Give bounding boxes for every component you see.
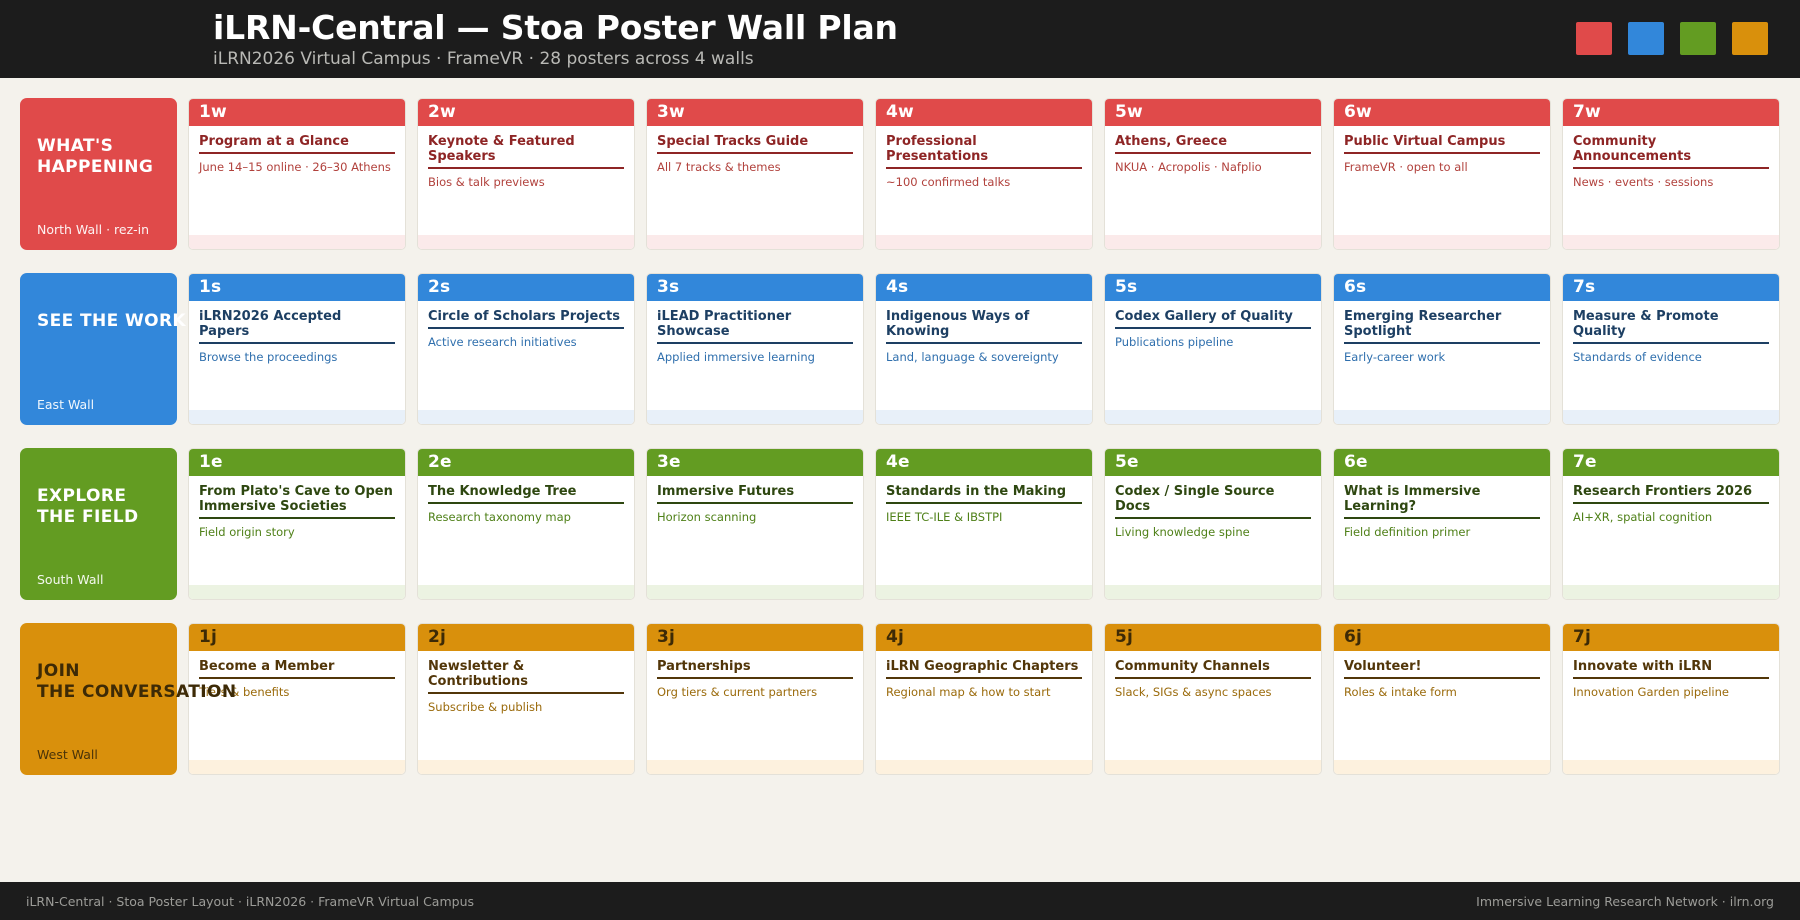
- poster-code-badge: 3e: [657, 454, 681, 471]
- poster-title: Innovate with iLRN: [1573, 659, 1769, 679]
- poster-card-body: From Plato's Cave to Open Immersive Soci…: [189, 476, 405, 585]
- poster-title: iLRN Geographic Chapters: [886, 659, 1082, 679]
- wall-row-orange: JOINTHE CONVERSATIONWest Wall1jBecome a …: [20, 623, 1780, 775]
- poster-card-header: 5j: [1105, 624, 1321, 651]
- poster-card-header: 6j: [1334, 624, 1550, 651]
- poster-card-footer-strip: [647, 235, 863, 249]
- poster-subtitle: Land, language & sovereignty: [886, 350, 1082, 364]
- wall-name: SEE THE WORK: [37, 311, 160, 332]
- poster-card[interactable]: 4eStandards in the MakingIEEE TC-ILE & I…: [875, 448, 1093, 600]
- poster-code-badge: 4s: [886, 279, 908, 296]
- swatch-red: [1576, 22, 1612, 55]
- poster-title: Athens, Greece: [1115, 134, 1311, 154]
- poster-card-header: 4w: [876, 99, 1092, 126]
- poster-card[interactable]: 3siLEAD Practitioner ShowcaseApplied imm…: [646, 273, 864, 425]
- poster-code-badge: 4j: [886, 629, 904, 646]
- poster-card-footer-strip: [1334, 410, 1550, 424]
- header-text-block: iLRN-Central — Stoa Poster Wall Plan iLR…: [213, 9, 898, 70]
- poster-subtitle: News · events · sessions: [1573, 175, 1769, 189]
- poster-card-footer-strip: [189, 410, 405, 424]
- poster-code-badge: 4w: [886, 104, 914, 121]
- poster-card-footer-strip: [1105, 760, 1321, 774]
- poster-card-body: Athens, GreeceNKUA · Acropolis · Nafplio: [1105, 126, 1321, 235]
- wall-name-line: EXPLORE: [37, 486, 160, 507]
- poster-card-header: 3j: [647, 624, 863, 651]
- poster-code-badge: 6j: [1344, 629, 1362, 646]
- poster-card-footer-strip: [1563, 410, 1779, 424]
- wall-row-red: WHAT'SHAPPENINGNorth Wall · rez-in1wProg…: [20, 98, 1780, 250]
- wall-name-line: THE FIELD: [37, 507, 160, 528]
- poster-card-body: Keynote & Featured SpeakersBios & talk p…: [418, 126, 634, 235]
- poster-card-footer-strip: [418, 585, 634, 599]
- poster-card-body: iLEAD Practitioner ShowcaseApplied immer…: [647, 301, 863, 410]
- poster-card-body: Volunteer!Roles & intake form: [1334, 651, 1550, 760]
- wall-grid: WHAT'SHAPPENINGNorth Wall · rez-in1wProg…: [0, 78, 1800, 838]
- poster-subtitle: ~100 confirmed talks: [886, 175, 1082, 189]
- poster-title: Research Frontiers 2026: [1573, 484, 1769, 504]
- poster-card[interactable]: 7sMeasure & Promote QualityStandards of …: [1562, 273, 1780, 425]
- wall-name-line: THE CONVERSATION: [37, 682, 160, 703]
- poster-title: Newsletter & Contributions: [428, 659, 624, 694]
- poster-title: Special Tracks Guide: [657, 134, 853, 154]
- poster-card-body: Measure & Promote QualityStandards of ev…: [1563, 301, 1779, 410]
- poster-code-badge: 1j: [199, 629, 217, 646]
- poster-card-header: 5e: [1105, 449, 1321, 476]
- wall-location: North Wall · rez-in: [37, 222, 149, 237]
- poster-card-footer-strip: [1105, 585, 1321, 599]
- poster-card-footer-strip: [647, 410, 863, 424]
- poster-card-footer-strip: [418, 760, 634, 774]
- poster-subtitle: Standards of evidence: [1573, 350, 1769, 364]
- poster-card[interactable]: 5sCodex Gallery of QualityPublications p…: [1104, 273, 1322, 425]
- poster-card-body: Become a MemberTiers & benefits: [189, 651, 405, 760]
- poster-code-badge: 2s: [428, 279, 450, 296]
- poster-card-body: Emerging Researcher SpotlightEarly-caree…: [1334, 301, 1550, 410]
- poster-code-badge: 4e: [886, 454, 910, 471]
- poster-card-header: 5w: [1105, 99, 1321, 126]
- poster-card-body: Innovate with iLRNInnovation Garden pipe…: [1563, 651, 1779, 760]
- poster-card-header: 6w: [1334, 99, 1550, 126]
- poster-title: Circle of Scholars Projects: [428, 309, 624, 329]
- poster-card-header: 4e: [876, 449, 1092, 476]
- wall-color-legend: [1576, 22, 1768, 55]
- poster-card[interactable]: 1wProgram at a GlanceJune 14–15 online ·…: [188, 98, 406, 250]
- wall-label-panel[interactable]: WHAT'SHAPPENINGNorth Wall · rez-in: [20, 98, 177, 250]
- poster-card-body: Newsletter & ContributionsSubscribe & pu…: [418, 651, 634, 760]
- poster-card-header: 3w: [647, 99, 863, 126]
- poster-title: Codex Gallery of Quality: [1115, 309, 1311, 329]
- poster-subtitle: June 14–15 online · 26–30 Athens: [199, 160, 395, 174]
- poster-card-body: Codex Gallery of QualityPublications pip…: [1105, 301, 1321, 410]
- poster-title: Keynote & Featured Speakers: [428, 134, 624, 169]
- poster-code-badge: 1s: [199, 279, 221, 296]
- poster-card[interactable]: 3wSpecial Tracks GuideAll 7 tracks & the…: [646, 98, 864, 250]
- poster-code-badge: 6s: [1344, 279, 1366, 296]
- poster-card-header: 7e: [1563, 449, 1779, 476]
- wall-row-green: EXPLORETHE FIELDSouth Wall1eFrom Plato's…: [20, 448, 1780, 600]
- poster-card[interactable]: 6sEmerging Researcher SpotlightEarly-car…: [1333, 273, 1551, 425]
- poster-subtitle: Field definition primer: [1344, 525, 1540, 539]
- poster-card[interactable]: 6eWhat is Immersive Learning?Field defin…: [1333, 448, 1551, 600]
- poster-card[interactable]: 2eThe Knowledge TreeResearch taxonomy ma…: [417, 448, 635, 600]
- wall-name: EXPLORETHE FIELD: [37, 486, 160, 528]
- poster-subtitle: Bios & talk previews: [428, 175, 624, 189]
- poster-card-header: 1s: [189, 274, 405, 301]
- wall-location: West Wall: [37, 747, 98, 762]
- footer-left-text: iLRN-Central · Stoa Poster Layout · iLRN…: [26, 894, 474, 909]
- poster-title: Public Virtual Campus: [1344, 134, 1540, 154]
- wall-location: East Wall: [37, 397, 94, 412]
- poster-card-footer-strip: [189, 585, 405, 599]
- poster-card-body: The Knowledge TreeResearch taxonomy map: [418, 476, 634, 585]
- poster-card-footer-strip: [1334, 585, 1550, 599]
- poster-card-footer-strip: [647, 585, 863, 599]
- poster-card[interactable]: 2wKeynote & Featured SpeakersBios & talk…: [417, 98, 635, 250]
- poster-card-body: Professional Presentations~100 confirmed…: [876, 126, 1092, 235]
- poster-card-body: Standards in the MakingIEEE TC-ILE & IBS…: [876, 476, 1092, 585]
- poster-card[interactable]: 7wCommunity AnnouncementsNews · events ·…: [1562, 98, 1780, 250]
- wall-name: WHAT'SHAPPENING: [37, 136, 160, 178]
- poster-title: The Knowledge Tree: [428, 484, 624, 504]
- poster-card[interactable]: 7eResearch Frontiers 2026AI+XR, spatial …: [1562, 448, 1780, 600]
- wall-name-line: HAPPENING: [37, 157, 160, 178]
- poster-card[interactable]: 7jInnovate with iLRNInnovation Garden pi…: [1562, 623, 1780, 775]
- poster-wall-plan-page: iLRN-Central — Stoa Poster Wall Plan iLR…: [0, 0, 1800, 920]
- wall-label-panel[interactable]: JOINTHE CONVERSATIONWest Wall: [20, 623, 177, 775]
- poster-code-badge: 1e: [199, 454, 223, 471]
- poster-card-footer-strip: [1105, 410, 1321, 424]
- poster-code-badge: 1w: [199, 104, 227, 121]
- poster-title: Become a Member: [199, 659, 395, 679]
- poster-card[interactable]: 6wPublic Virtual CampusFrameVR · open to…: [1333, 98, 1551, 250]
- poster-card[interactable]: 5wAthens, GreeceNKUA · Acropolis · Nafpl…: [1104, 98, 1322, 250]
- poster-title: Community Announcements: [1573, 134, 1769, 169]
- poster-card-body: iLRN2026 Accepted PapersBrowse the proce…: [189, 301, 405, 410]
- page-title: iLRN-Central — Stoa Poster Wall Plan: [213, 9, 898, 47]
- poster-title: iLRN2026 Accepted Papers: [199, 309, 395, 344]
- poster-card-strip: 1siLRN2026 Accepted PapersBrowse the pro…: [188, 273, 1780, 425]
- poster-card-header: 2w: [418, 99, 634, 126]
- poster-subtitle: Research taxonomy map: [428, 510, 624, 524]
- poster-card-footer-strip: [876, 235, 1092, 249]
- poster-subtitle: Regional map & how to start: [886, 685, 1082, 699]
- poster-card-strip: 1eFrom Plato's Cave to Open Immersive So…: [188, 448, 1780, 600]
- poster-card-body: Indigenous Ways of KnowingLand, language…: [876, 301, 1092, 410]
- wall-name-line: WHAT'S: [37, 136, 160, 157]
- wall-label-panel[interactable]: SEE THE WORKEast Wall: [20, 273, 177, 425]
- poster-code-badge: 7e: [1573, 454, 1597, 471]
- poster-card[interactable]: 4sIndigenous Ways of KnowingLand, langua…: [875, 273, 1093, 425]
- poster-code-badge: 7s: [1573, 279, 1595, 296]
- poster-subtitle: FrameVR · open to all: [1344, 160, 1540, 174]
- poster-card-header: 7j: [1563, 624, 1779, 651]
- wall-location: South Wall: [37, 572, 103, 587]
- swatch-green: [1680, 22, 1716, 55]
- poster-card-header: 3e: [647, 449, 863, 476]
- poster-card[interactable]: 3jPartnershipsOrg tiers & current partne…: [646, 623, 864, 775]
- poster-card[interactable]: 5jCommunity ChannelsSlack, SIGs & async …: [1104, 623, 1322, 775]
- poster-card-header: 7w: [1563, 99, 1779, 126]
- poster-card-body: Special Tracks GuideAll 7 tracks & theme…: [647, 126, 863, 235]
- poster-title: Partnerships: [657, 659, 853, 679]
- poster-card-footer-strip: [1563, 585, 1779, 599]
- poster-code-badge: 6w: [1344, 104, 1372, 121]
- poster-card-header: 3s: [647, 274, 863, 301]
- wall-name-line: SEE THE WORK: [37, 311, 160, 332]
- page-subtitle: iLRN2026 Virtual Campus · FrameVR · 28 p…: [213, 48, 898, 70]
- poster-code-badge: 2w: [428, 104, 456, 121]
- poster-card-footer-strip: [876, 760, 1092, 774]
- poster-subtitle: Slack, SIGs & async spaces: [1115, 685, 1311, 699]
- wall-label-panel[interactable]: EXPLORETHE FIELDSouth Wall: [20, 448, 177, 600]
- poster-card-footer-strip: [418, 235, 634, 249]
- poster-subtitle: Horizon scanning: [657, 510, 853, 524]
- poster-subtitle: NKUA · Acropolis · Nafplio: [1115, 160, 1311, 174]
- poster-subtitle: Field origin story: [199, 525, 395, 539]
- poster-card-header: 1j: [189, 624, 405, 651]
- poster-card-header: 2s: [418, 274, 634, 301]
- poster-card-body: Codex / Single Source DocsLiving knowled…: [1105, 476, 1321, 585]
- poster-card-footer-strip: [1105, 235, 1321, 249]
- wall-name-line: JOIN: [37, 661, 160, 682]
- poster-card-body: Program at a GlanceJune 14–15 online · 2…: [189, 126, 405, 235]
- poster-title: Program at a Glance: [199, 134, 395, 154]
- poster-subtitle: Browse the proceedings: [199, 350, 395, 364]
- poster-title: Community Channels: [1115, 659, 1311, 679]
- poster-title: From Plato's Cave to Open Immersive Soci…: [199, 484, 395, 519]
- poster-title: Measure & Promote Quality: [1573, 309, 1769, 344]
- poster-card-footer-strip: [876, 585, 1092, 599]
- poster-subtitle: Early-career work: [1344, 350, 1540, 364]
- poster-title: Indigenous Ways of Knowing: [886, 309, 1082, 344]
- poster-card[interactable]: 4jiLRN Geographic ChaptersRegional map &…: [875, 623, 1093, 775]
- poster-card-footer-strip: [1334, 235, 1550, 249]
- wall-row-blue: SEE THE WORKEast Wall1siLRN2026 Accepted…: [20, 273, 1780, 425]
- poster-title: Codex / Single Source Docs: [1115, 484, 1311, 519]
- poster-card-strip: 1wProgram at a GlanceJune 14–15 online ·…: [188, 98, 1780, 250]
- poster-code-badge: 6e: [1344, 454, 1368, 471]
- poster-code-badge: 3s: [657, 279, 679, 296]
- poster-card-footer-strip: [1563, 760, 1779, 774]
- poster-card-header: 4j: [876, 624, 1092, 651]
- poster-title: Emerging Researcher Spotlight: [1344, 309, 1540, 344]
- swatch-blue: [1628, 22, 1664, 55]
- poster-code-badge: 2e: [428, 454, 452, 471]
- poster-card-body: iLRN Geographic ChaptersRegional map & h…: [876, 651, 1092, 760]
- poster-subtitle: Active research initiatives: [428, 335, 624, 349]
- poster-code-badge: 5s: [1115, 279, 1137, 296]
- poster-code-badge: 2j: [428, 629, 446, 646]
- poster-subtitle: Innovation Garden pipeline: [1573, 685, 1769, 699]
- poster-card[interactable]: 4wProfessional Presentations~100 confirm…: [875, 98, 1093, 250]
- poster-card[interactable]: 6jVolunteer!Roles & intake form: [1333, 623, 1551, 775]
- app-footer: iLRN-Central · Stoa Poster Layout · iLRN…: [0, 882, 1800, 920]
- app-header: iLRN-Central — Stoa Poster Wall Plan iLR…: [0, 0, 1800, 78]
- poster-title: Immersive Futures: [657, 484, 853, 504]
- poster-code-badge: 3j: [657, 629, 675, 646]
- poster-card-header: 2j: [418, 624, 634, 651]
- poster-card-header: 1w: [189, 99, 405, 126]
- poster-code-badge: 5w: [1115, 104, 1143, 121]
- poster-card-header: 5s: [1105, 274, 1321, 301]
- poster-card-body: Public Virtual CampusFrameVR · open to a…: [1334, 126, 1550, 235]
- poster-card-header: 6s: [1334, 274, 1550, 301]
- poster-card-footer-strip: [189, 760, 405, 774]
- poster-card[interactable]: 3eImmersive FuturesHorizon scanning: [646, 448, 864, 600]
- poster-code-badge: 3w: [657, 104, 685, 121]
- poster-code-badge: 5j: [1115, 629, 1133, 646]
- poster-subtitle: Publications pipeline: [1115, 335, 1311, 349]
- poster-card-strip: 1jBecome a MemberTiers & benefits2jNewsl…: [188, 623, 1780, 775]
- poster-title: iLEAD Practitioner Showcase: [657, 309, 853, 344]
- poster-card-header: 7s: [1563, 274, 1779, 301]
- poster-card-body: PartnershipsOrg tiers & current partners: [647, 651, 863, 760]
- poster-card-body: Research Frontiers 2026AI+XR, spatial co…: [1563, 476, 1779, 585]
- poster-subtitle: Org tiers & current partners: [657, 685, 853, 699]
- poster-card-body: Immersive FuturesHorizon scanning: [647, 476, 863, 585]
- poster-subtitle: Applied immersive learning: [657, 350, 853, 364]
- swatch-orange: [1732, 22, 1768, 55]
- poster-subtitle: Roles & intake form: [1344, 685, 1540, 699]
- poster-card[interactable]: 5eCodex / Single Source DocsLiving knowl…: [1104, 448, 1322, 600]
- poster-card-header: 1e: [189, 449, 405, 476]
- poster-card-body: Community AnnouncementsNews · events · s…: [1563, 126, 1779, 235]
- poster-card-footer-strip: [647, 760, 863, 774]
- poster-card-footer-strip: [1563, 235, 1779, 249]
- poster-title: Professional Presentations: [886, 134, 1082, 169]
- poster-title: Volunteer!: [1344, 659, 1540, 679]
- poster-card-header: 4s: [876, 274, 1092, 301]
- poster-card-body: Circle of Scholars ProjectsActive resear…: [418, 301, 634, 410]
- poster-title: What is Immersive Learning?: [1344, 484, 1540, 519]
- poster-title: Standards in the Making: [886, 484, 1082, 504]
- poster-card-header: 6e: [1334, 449, 1550, 476]
- poster-card-footer-strip: [189, 235, 405, 249]
- poster-subtitle: IEEE TC-ILE & IBSTPI: [886, 510, 1082, 524]
- poster-card-footer-strip: [1334, 760, 1550, 774]
- poster-subtitle: Living knowledge spine: [1115, 525, 1311, 539]
- poster-card[interactable]: 1siLRN2026 Accepted PapersBrowse the pro…: [188, 273, 406, 425]
- wall-name: JOINTHE CONVERSATION: [37, 661, 160, 703]
- poster-card[interactable]: 2jNewsletter & ContributionsSubscribe & …: [417, 623, 635, 775]
- poster-subtitle: AI+XR, spatial cognition: [1573, 510, 1769, 524]
- poster-card-body: Community ChannelsSlack, SIGs & async sp…: [1105, 651, 1321, 760]
- poster-subtitle: All 7 tracks & themes: [657, 160, 853, 174]
- poster-card[interactable]: 1eFrom Plato's Cave to Open Immersive So…: [188, 448, 406, 600]
- poster-code-badge: 7w: [1573, 104, 1601, 121]
- poster-card-body: What is Immersive Learning?Field definit…: [1334, 476, 1550, 585]
- poster-code-badge: 7j: [1573, 629, 1591, 646]
- poster-subtitle: Subscribe & publish: [428, 700, 624, 714]
- poster-code-badge: 5e: [1115, 454, 1139, 471]
- poster-card-header: 2e: [418, 449, 634, 476]
- poster-card-footer-strip: [876, 410, 1092, 424]
- poster-card-footer-strip: [418, 410, 634, 424]
- footer-right-text: Immersive Learning Research Network · il…: [1476, 894, 1774, 909]
- poster-card[interactable]: 2sCircle of Scholars ProjectsActive rese…: [417, 273, 635, 425]
